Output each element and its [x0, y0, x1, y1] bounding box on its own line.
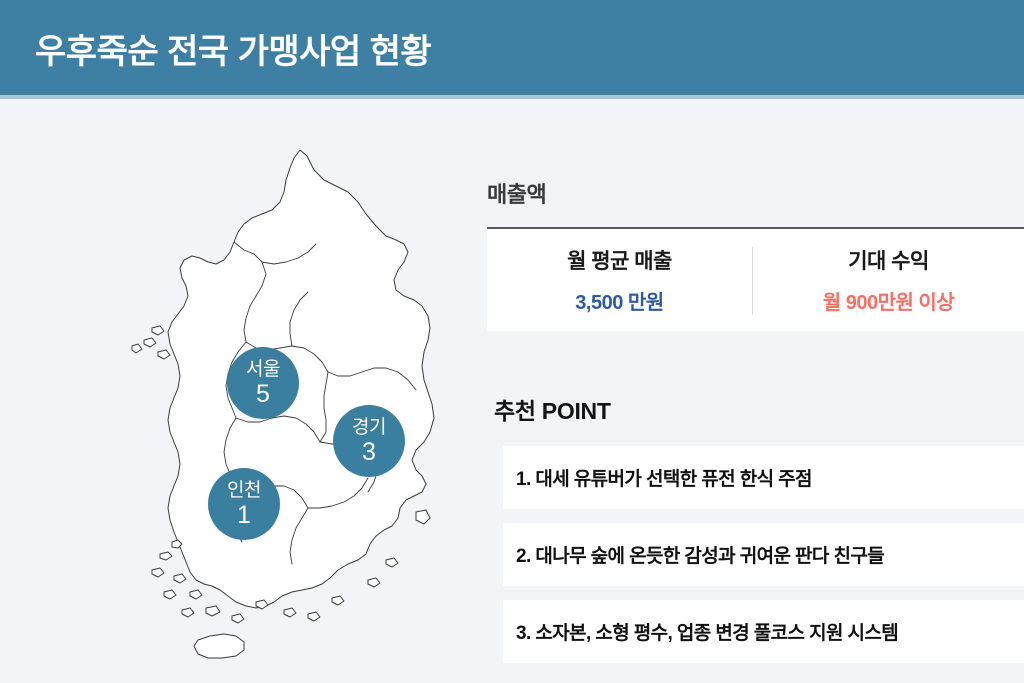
map-marker-gyeonggi-count: 3	[362, 440, 376, 465]
sales-label-expected-profit: 기대 수익	[848, 245, 929, 275]
point-item-1-text: 1. 대세 유튜버가 선택한 퓨전 한식 주점	[516, 464, 812, 491]
point-item-3-text: 3. 소자본, 소형 평수, 업종 변경 풀코스 지원 시스템	[516, 618, 898, 645]
infographic-page: 우후죽순 전국 가맹사업 현황	[0, 0, 1024, 683]
points-section-heading: 추천 POINT	[494, 392, 611, 426]
point-list-item: 1. 대세 유튜버가 선택한 퓨전 한식 주점	[503, 446, 1024, 509]
map-marker-incheon-count: 1	[237, 503, 251, 528]
map-marker-seoul-count: 5	[256, 382, 270, 407]
header-underline-divider	[0, 95, 1024, 99]
map-outline-jeju	[194, 634, 244, 658]
korea-map: 서울 5 경기 3 인천 1	[86, 140, 446, 680]
sales-card: 월 평균 매출 3,500 만원 기대 수익 월 900만원 이상	[487, 227, 1024, 331]
sales-label-average-revenue: 월 평균 매출	[567, 245, 672, 275]
map-marker-incheon-label: 인천	[227, 481, 261, 500]
map-marker-gyeonggi-label: 경기	[352, 418, 386, 437]
point-list-item: 2. 대나무 숲에 온듯한 감성과 귀여운 판다 친구들	[503, 523, 1024, 586]
map-marker-seoul-label: 서울	[246, 360, 280, 379]
map-marker-incheon[interactable]: 인천 1	[208, 468, 280, 540]
point-list-item: 3. 소자본, 소형 평수, 업종 변경 풀코스 지원 시스템	[503, 600, 1024, 663]
map-outline-mainland	[168, 150, 434, 608]
sales-column-average-revenue: 월 평균 매출 3,500 만원	[487, 229, 752, 331]
sales-section-heading: 매출액	[487, 177, 546, 209]
point-item-2-text: 2. 대나무 숲에 온듯한 감성과 귀여운 판다 친구들	[516, 541, 884, 568]
sales-column-expected-profit: 기대 수익 월 900만원 이상	[753, 229, 1024, 331]
map-marker-seoul[interactable]: 서울 5	[227, 347, 299, 419]
sales-value-average-revenue: 3,500 만원	[575, 286, 663, 315]
map-marker-gyeonggi[interactable]: 경기 3	[333, 405, 405, 477]
page-title: 우후죽순 전국 가맹사업 현황	[35, 24, 431, 73]
sales-value-expected-profit: 월 900만원 이상	[823, 286, 954, 315]
